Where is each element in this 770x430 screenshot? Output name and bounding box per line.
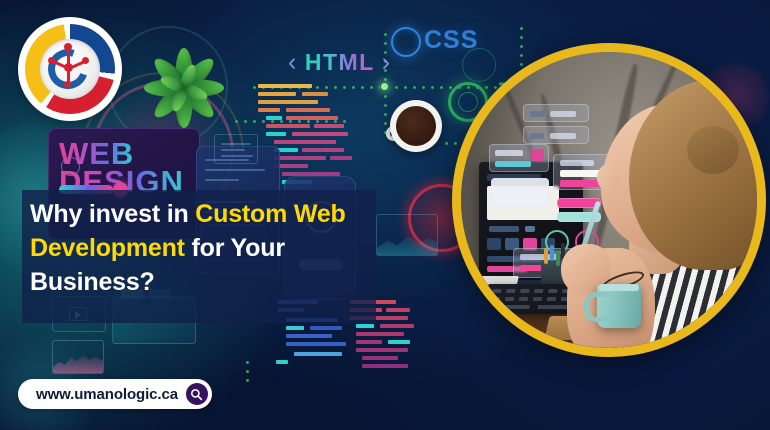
wireframe-graph-card [376,214,438,256]
connector-line-v4 [246,358,249,384]
angle-bracket-open-icon: ‹ [288,48,298,77]
headline-part-1: Why invest in [30,200,195,228]
coffee-mug-topview-icon [386,100,444,156]
website-url-pill[interactable]: www.umanologic.ca [18,379,212,409]
tech-label-html-text: HTML [305,49,375,76]
connector-node [381,83,388,90]
plant-icon [142,48,226,128]
woman-at-desk-photo [452,43,766,357]
photo-mug [597,284,641,328]
photo-ui-panel-3 [489,144,549,172]
photo-hair-bun [687,126,739,174]
tech-label-html: ‹ HTML › [288,48,392,77]
wireframe-card-1 [214,134,258,164]
umanologic-logo[interactable] [18,17,122,121]
logo-network-icon [44,43,96,91]
page-title: Why invest in Custom Web Development for… [30,198,380,299]
angle-bracket-close-icon: › [382,48,392,77]
wireframe-chart-card [52,340,104,374]
photo-ui-panel-1 [523,104,589,122]
css-ring-icon [391,27,421,57]
connector-line-h3 [232,120,350,123]
blog-banner: WEB DESIGN [0,0,770,430]
photo-ui-panel-5 [491,178,549,208]
search-icon[interactable] [186,383,208,405]
photo-ui-panel-2 [523,126,589,144]
website-url-text: www.umanologic.ca [36,386,178,403]
photo-nose [597,164,619,190]
